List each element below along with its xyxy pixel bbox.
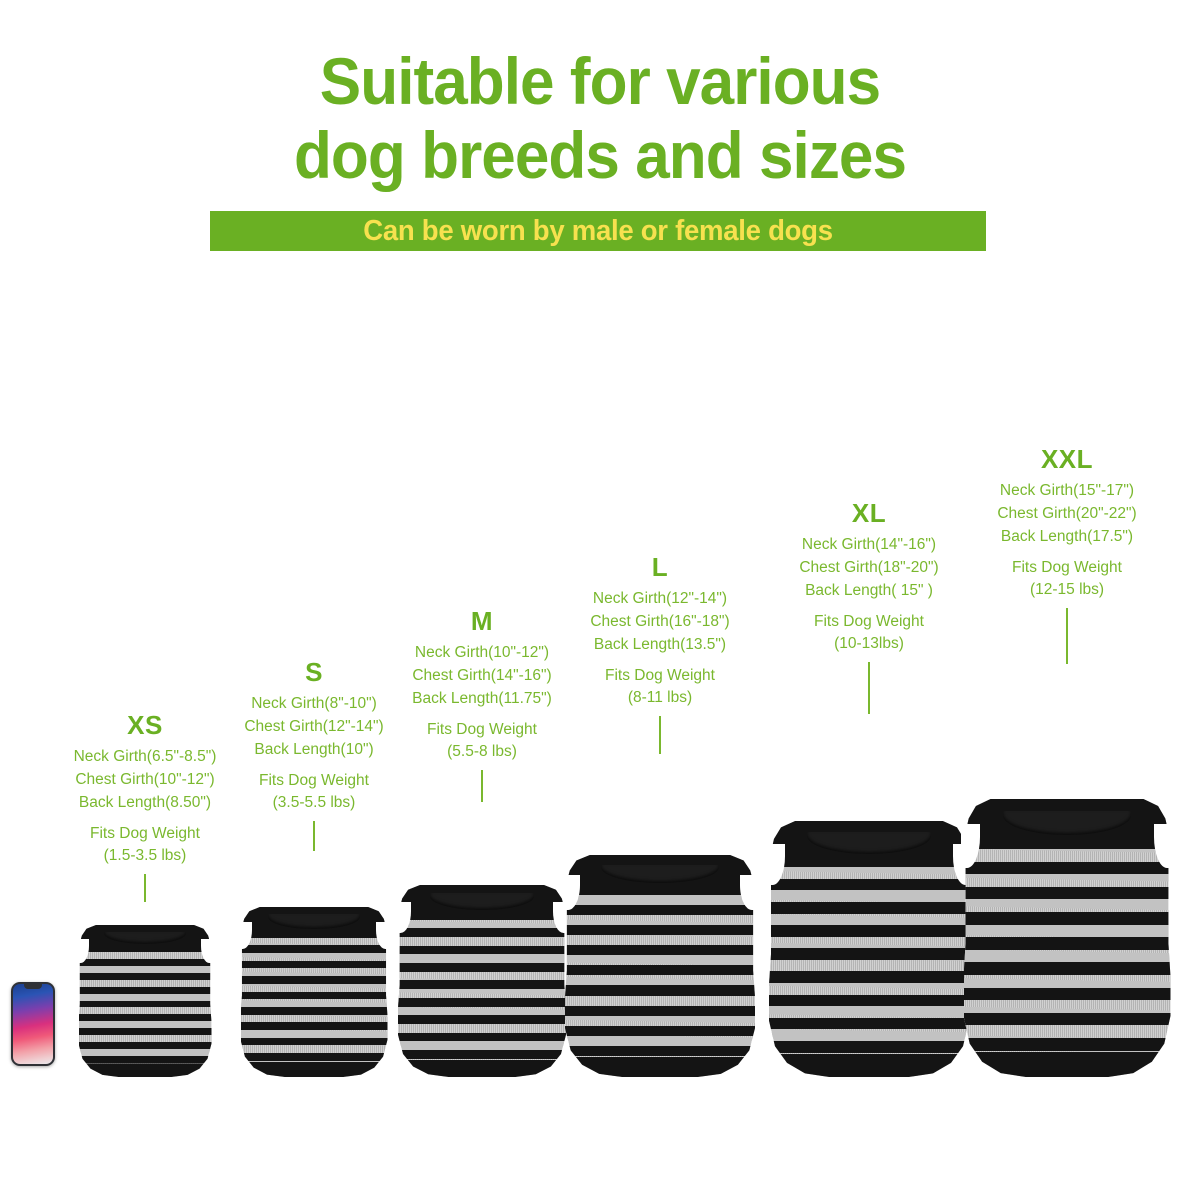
shirt-body <box>964 799 1171 1077</box>
shirt-body <box>79 925 212 1077</box>
shirt-bottom-hem <box>769 1054 969 1077</box>
shirt-bottom-hem <box>79 1063 212 1077</box>
connector-line-s <box>313 821 315 851</box>
connector-line-xxl <box>1066 608 1068 664</box>
shirt-bottom-hem <box>398 1060 566 1077</box>
shirt-body <box>398 885 566 1077</box>
shirt-body <box>241 907 388 1077</box>
fits-dog-weight-value-xxl: (12-15 lbs) <box>917 579 1200 602</box>
header: Suitable for various dog breeds and size… <box>0 44 1200 192</box>
shirt-graphic <box>398 885 566 1077</box>
shirt-graphic <box>565 855 755 1077</box>
size-column-xxl: XXLNeck Girth(15"-17")Chest Girth(20"-22… <box>917 446 1200 664</box>
chest-girth-xxl: Chest Girth(20"-22") <box>917 503 1200 526</box>
shirt-bottom-hem <box>565 1057 755 1077</box>
subtitle-banner-text: Can be worn by male or female dogs <box>229 211 966 251</box>
page-title-line-2: dog breeds and sizes <box>36 118 1164 192</box>
fits-dog-weight-label-xxl: Fits Dog Weight <box>917 557 1200 580</box>
shirt-body <box>769 821 969 1077</box>
shirt-bottom-hem <box>964 1052 1171 1077</box>
subtitle-banner: Can be worn by male or female dogs <box>210 211 986 251</box>
shirt-graphic <box>964 799 1171 1077</box>
connector-line-l <box>659 716 661 754</box>
shirt-image-xl <box>769 821 969 1077</box>
shirt-graphic <box>769 821 969 1077</box>
shirt-image-xs <box>79 925 212 1077</box>
shirt-image-l <box>565 855 755 1077</box>
phone-screen <box>13 984 53 1064</box>
shirt-image-xxl <box>964 799 1171 1077</box>
size-name-xxl: XXL <box>917 446 1200 473</box>
connector-line-xs <box>144 874 146 902</box>
shirt-graphic <box>241 907 388 1077</box>
connector-line-m <box>481 770 483 802</box>
shirt-bottom-hem <box>241 1062 388 1077</box>
shirt-body <box>565 855 755 1077</box>
back-length-xxl: Back Length(17.5") <box>917 526 1200 549</box>
shirt-image-s <box>241 907 388 1077</box>
size-specs-xxl: Neck Girth(15"-17")Chest Girth(20"-22")B… <box>917 480 1200 602</box>
connector-line-xl <box>868 662 870 714</box>
phone-notch-icon <box>24 984 42 989</box>
page-title-line-1: Suitable for various <box>36 44 1164 118</box>
shirt-graphic <box>79 925 212 1077</box>
shirt-image-m <box>398 885 566 1077</box>
iphone-scale-reference <box>11 982 55 1066</box>
neck-girth-xxl: Neck Girth(15"-17") <box>917 480 1200 503</box>
